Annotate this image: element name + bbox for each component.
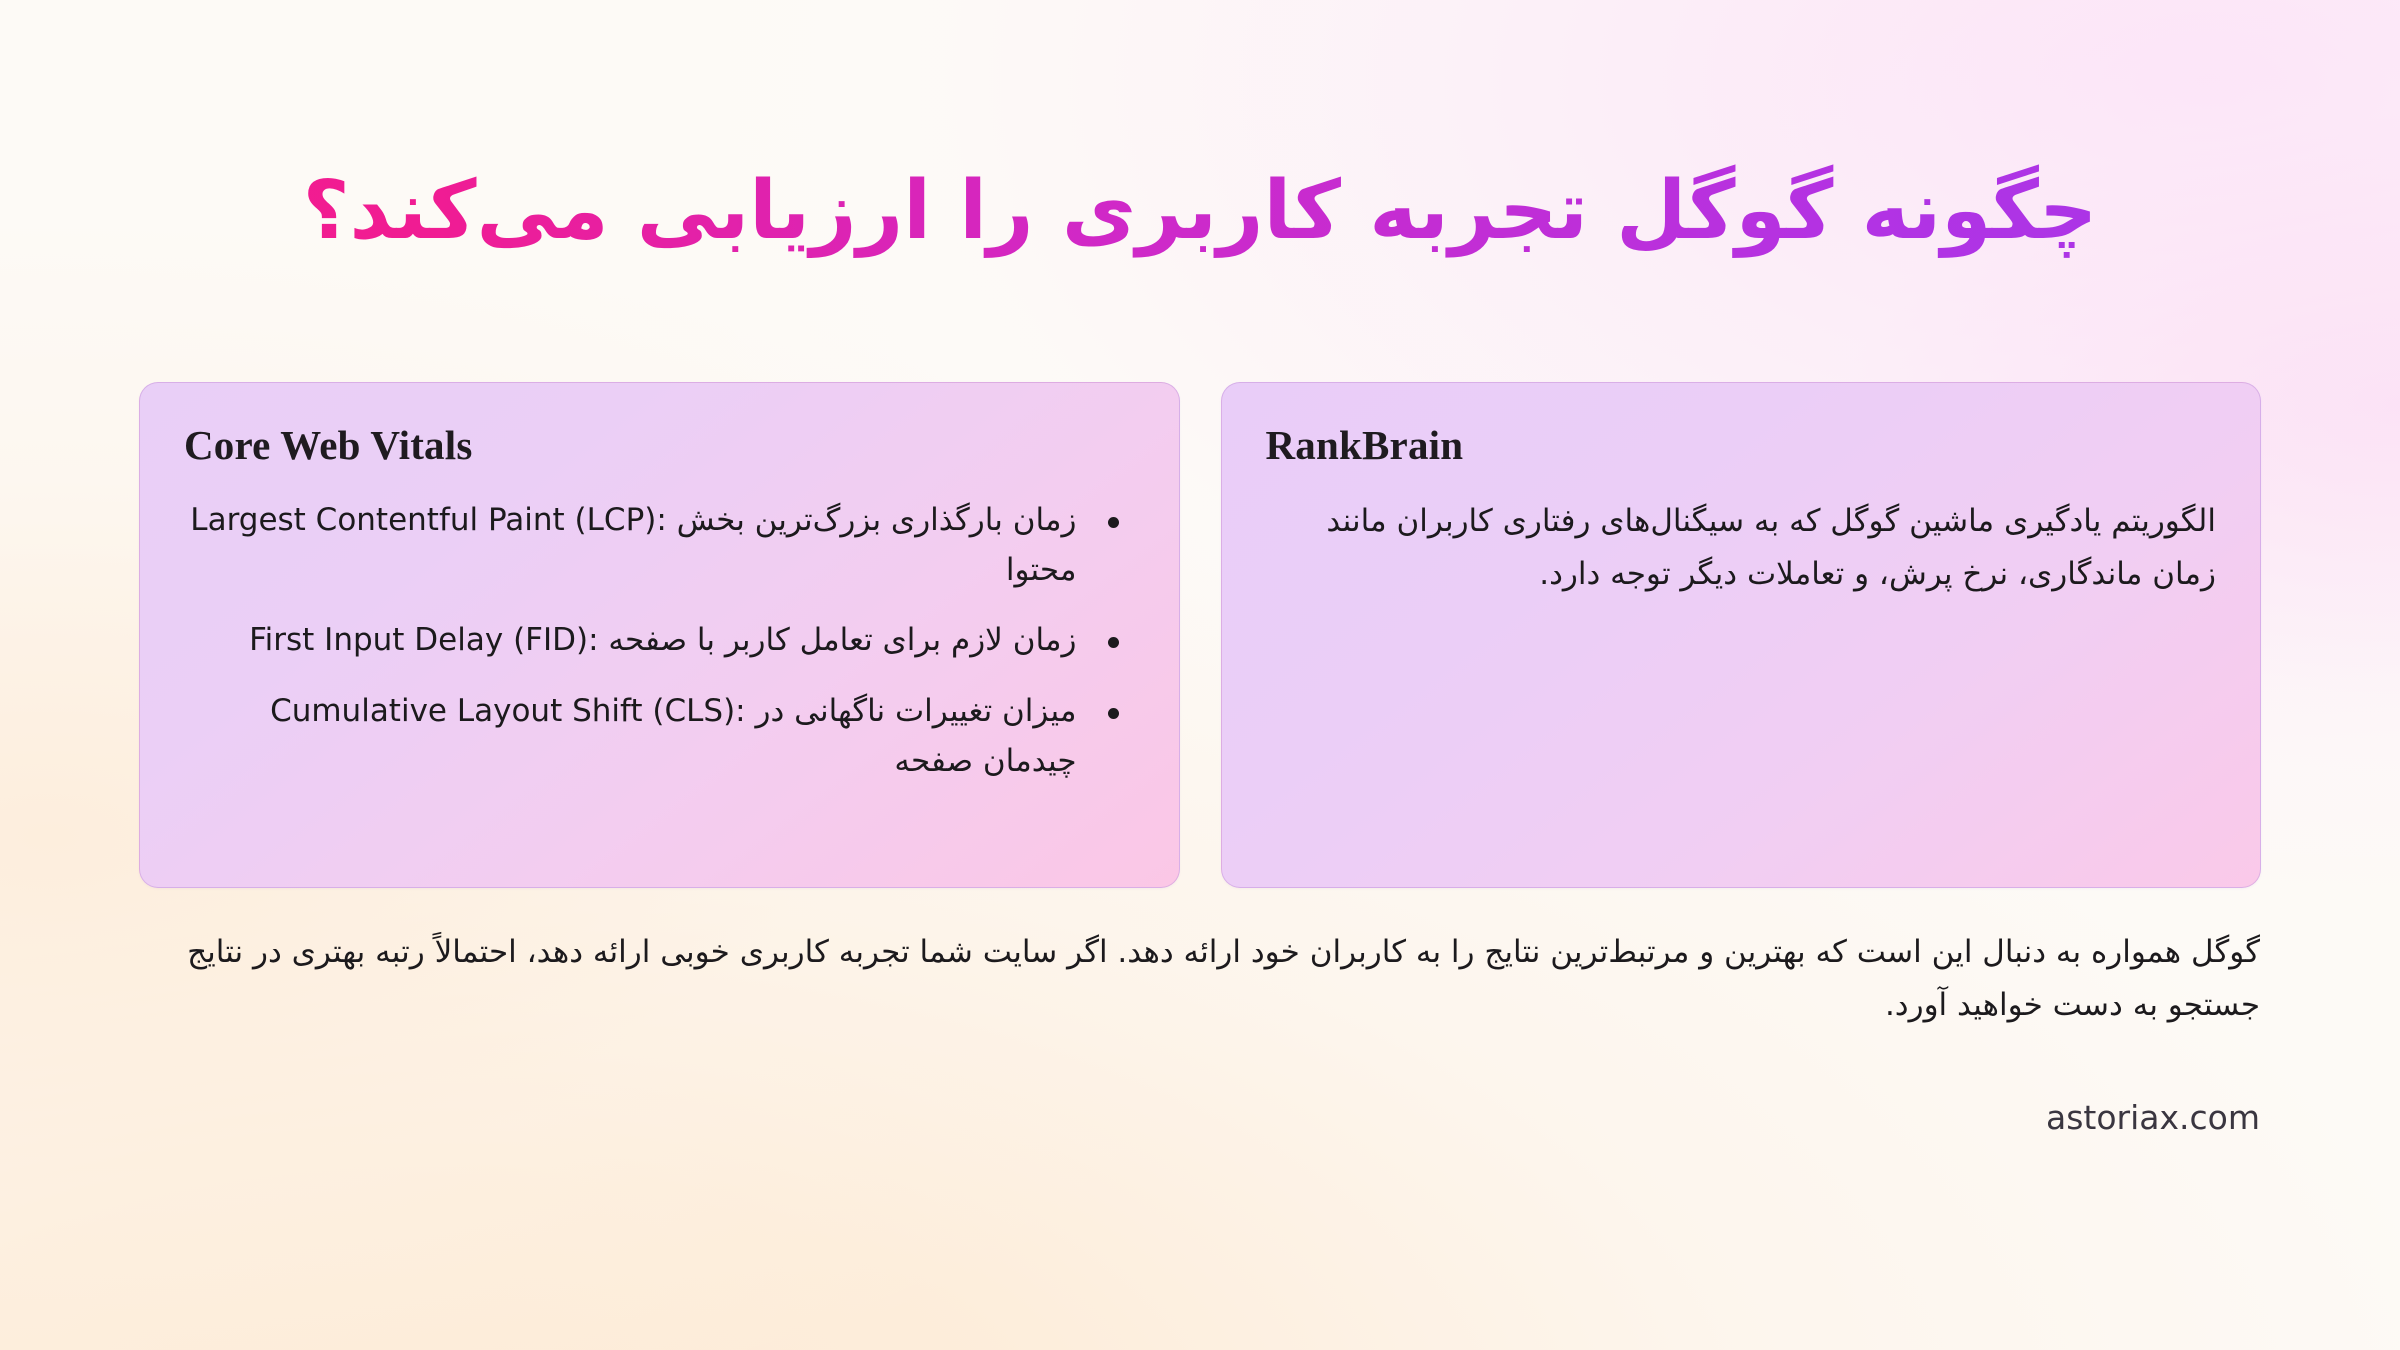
- list-item-text: Largest Contentful Paint (LCP): زمان بار…: [190, 502, 1076, 588]
- card-rankbrain: RankBrain الگوریتم یادگیری ماشین گوگل که…: [1221, 382, 2262, 888]
- closing-paragraph: گوگل همواره به دنبال این است که بهترین و…: [160, 926, 2260, 1033]
- list-item-text: First Input Delay (FID): زمان لازم برای …: [249, 622, 1076, 658]
- list-item-text: Cumulative Layout Shift (CLS): میزان تغی…: [270, 693, 1076, 779]
- list-item: First Input Delay (FID): زمان لازم برای …: [184, 615, 1135, 665]
- page-title: چگونه گوگل تجربه کاربری را ارزیابی می‌کن…: [0, 164, 2400, 260]
- list-item: Cumulative Layout Shift (CLS): میزان تغی…: [184, 686, 1135, 786]
- card-core-web-vitals: Core Web Vitals Largest Contentful Paint…: [139, 382, 1180, 888]
- slide-canvas: چگونه گوگل تجربه کاربری را ارزیابی می‌کن…: [0, 0, 2400, 1350]
- cards-row: Core Web Vitals Largest Contentful Paint…: [139, 382, 2261, 888]
- bullet-dot-icon: [1108, 637, 1119, 648]
- card-heading: Core Web Vitals: [184, 421, 1135, 469]
- card-heading: RankBrain: [1266, 421, 2217, 469]
- card-body-text: الگوریتم یادگیری ماشین گوگل که به سیگنال…: [1266, 495, 2217, 602]
- core-web-vitals-list: Largest Contentful Paint (LCP): زمان بار…: [184, 495, 1135, 786]
- bullet-dot-icon: [1108, 517, 1119, 528]
- list-item: Largest Contentful Paint (LCP): زمان بار…: [184, 495, 1135, 595]
- source-attribution: astoriax.com: [0, 1098, 2260, 1137]
- bullet-dot-icon: [1108, 708, 1119, 719]
